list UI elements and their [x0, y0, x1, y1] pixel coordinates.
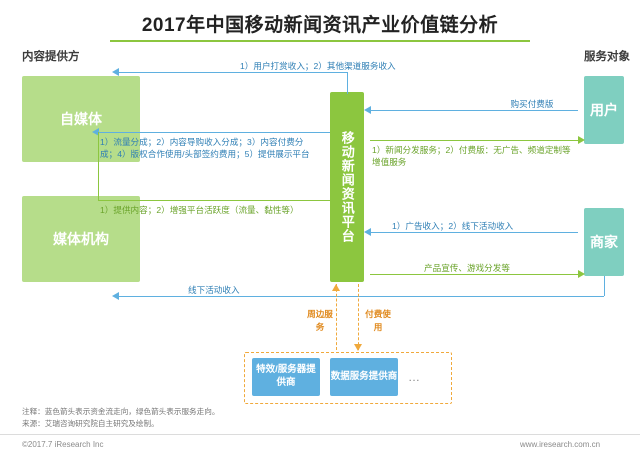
- title-underline: [110, 40, 530, 42]
- paid-use-arrowhead: [354, 344, 362, 351]
- copyright-text: ©2017.7 iResearch Inc: [22, 440, 104, 449]
- right-column-header: 服务对象: [584, 48, 630, 64]
- revenue-share-label: 1）流量分成；2）内容导购收入分成；3）内容付费分成；4）版权合作使用/头部签约…: [100, 136, 318, 161]
- website-text: www.iresearch.com.cn: [520, 440, 600, 449]
- news-service-arrowhead: [578, 136, 585, 144]
- box-service-provider-1: 特效/服务器提供商: [252, 358, 320, 396]
- ad-revenue-arrowhead: [364, 228, 371, 236]
- left-bus-vertical: [98, 132, 99, 200]
- top-flow-label: 1）用户打赏收入；2）其他渠道服务收入: [240, 60, 500, 72]
- diagram-canvas: 2017年中国移动新闻资讯产业价值链分析 内容提供方 服务对象 自媒体 媒体机构…: [0, 0, 640, 460]
- promotion-label: 产品宣传、游戏分发等: [424, 262, 584, 274]
- ad-revenue-label: 1）广告收入；2）线下活动收入: [392, 220, 592, 232]
- page-title: 2017年中国移动新闻资讯产业价值链分析: [0, 10, 640, 37]
- footer-divider: [0, 434, 640, 435]
- content-supply-line: [98, 200, 330, 201]
- news-service-label: 1）新闻分发服务；2）付费版：无广告、频道定制等增值服务: [372, 144, 572, 169]
- content-supply-arrowhead: [330, 196, 337, 204]
- peripheral-service-label: 周边服务: [306, 308, 334, 334]
- offline-revenue-arrowhead: [112, 292, 119, 300]
- purchase-flow-arrowhead: [364, 106, 371, 114]
- box-merchant: 商家: [584, 208, 624, 276]
- left-column-header: 内容提供方: [22, 48, 80, 64]
- revenue-share-line: [98, 132, 330, 133]
- footnote-line-2: 来源：艾瑞咨询研究院自主研究及绘制。: [22, 418, 219, 430]
- box-mobile-news-platform: 移动新闻资讯平台: [330, 92, 364, 282]
- top-flow-vertical-line: [347, 72, 348, 94]
- paid-use-dashed-line: [358, 284, 359, 350]
- content-supply-label: 1）提供内容；2）增强平台活跃度（流量、黏性等）: [100, 204, 318, 216]
- purchase-flow-label: 购买付费版: [462, 98, 602, 110]
- peripheral-service-arrowhead: [332, 284, 340, 291]
- footnote-line-1: 注释：蓝色箭头表示资金流走向，绿色箭头表示服务走向。: [22, 406, 219, 418]
- news-service-line: [370, 140, 578, 141]
- top-flow-arrowhead: [112, 68, 119, 76]
- offline-revenue-right-vertical: [604, 276, 605, 296]
- box-service-provider-2: 数据服务提供商: [330, 358, 398, 396]
- box-service-more: …: [408, 370, 420, 384]
- paid-use-label: 付费使用: [364, 308, 392, 334]
- peripheral-service-dashed-line: [336, 284, 337, 350]
- offline-revenue-label: 线下活动收入: [188, 284, 328, 296]
- footnote: 注释：蓝色箭头表示资金流走向，绿色箭头表示服务走向。 来源：艾瑞咨询研究院自主研…: [22, 406, 219, 430]
